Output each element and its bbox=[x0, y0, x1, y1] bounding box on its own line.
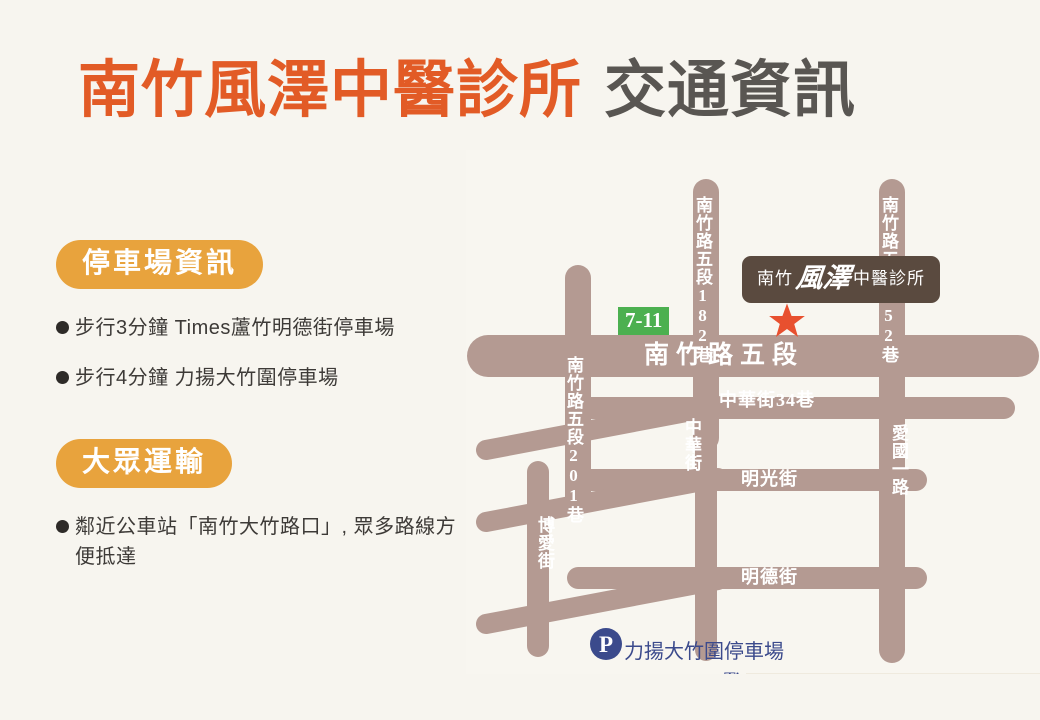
list-item: 步行4分鐘 力揚大竹圍停車場 bbox=[56, 363, 476, 393]
list-item: 步行3分鐘 Times蘆竹明德街停車場 bbox=[56, 313, 476, 343]
page-title: 南竹風澤中醫診所 交通資訊 bbox=[78, 48, 856, 134]
bullet-dot-icon bbox=[56, 321, 69, 334]
info-column: 停車場資訊 步行3分鐘 Times蘆竹明德街停車場 步行4分鐘 力揚大竹圍停車場… bbox=[56, 240, 476, 592]
transit-section: 大眾運輸 鄰近公車站「南竹大竹路口」, 眾多路線方便抵達 bbox=[56, 439, 476, 572]
clinic-sign-suffix: 中醫診所 bbox=[853, 270, 925, 287]
clinic-sign: 南竹 風澤 中醫診所 bbox=[742, 256, 940, 303]
poi-convenience-store-7-11: 7-11 bbox=[618, 307, 669, 335]
map-bottom-divider bbox=[746, 673, 1040, 674]
parking-item-1: 步行3分鐘 Times蘆竹明德街停車場 bbox=[75, 313, 476, 343]
page-title-subject: 交通資訊 bbox=[604, 60, 856, 122]
page-title-clinic-name: 南竹風澤中醫診所 bbox=[78, 60, 582, 122]
list-item: 鄰近公車站「南竹大竹路口」, 眾多路線方便抵達 bbox=[56, 512, 476, 572]
parking-section: 停車場資訊 步行3分鐘 Times蘆竹明德街停車場 步行4分鐘 力揚大竹圍停車場 bbox=[56, 240, 476, 393]
bullet-dot-icon bbox=[56, 520, 69, 533]
transit-bullet-list: 鄰近公車站「南竹大竹路口」, 眾多路線方便抵達 bbox=[56, 512, 476, 572]
bullet-dot-icon bbox=[56, 371, 69, 384]
parking-item-2: 步行4分鐘 力揚大竹圍停車場 bbox=[75, 363, 476, 393]
location-map: 南竹路五段 南竹路五段182巷 南竹路五段152巷 南竹路五段201巷 中華街3… bbox=[466, 150, 1040, 674]
parking-marker-icon-liyang: P bbox=[590, 628, 622, 660]
map-road-network bbox=[466, 150, 1040, 674]
clinic-sign-brush-name: 風澤 bbox=[795, 265, 852, 292]
parking-bullet-list: 步行3分鐘 Times蘆竹明德街停車場 步行4分鐘 力揚大竹圍停車場 bbox=[56, 313, 476, 393]
transit-section-heading: 大眾運輸 bbox=[56, 439, 232, 488]
parking-section-heading: 停車場資訊 bbox=[56, 240, 263, 289]
parking-label-liyang: 力揚大竹圍停車場 bbox=[624, 641, 784, 664]
poster-page: 南竹風澤中醫診所 交通資訊 停車場資訊 步行3分鐘 Times蘆竹明德街停車場 … bbox=[0, 0, 1040, 720]
transit-item-1: 鄰近公車站「南竹大竹路口」, 眾多路線方便抵達 bbox=[75, 512, 476, 572]
clinic-sign-prefix: 南竹 bbox=[757, 270, 793, 287]
clinic-location-star-icon bbox=[768, 302, 806, 340]
